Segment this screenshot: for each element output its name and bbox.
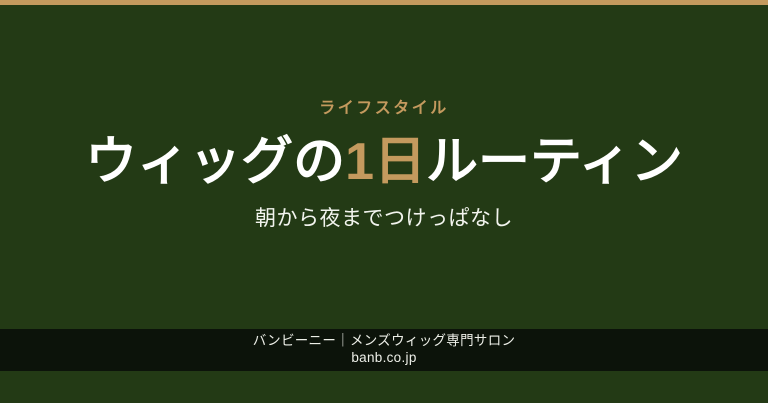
brand-url: banb.co.jp [351, 350, 416, 367]
subtitle: 朝から夜までつけっぱなし [255, 205, 513, 232]
brand-name: バンビーニー｜メンズウィッグ専門サロン [253, 333, 516, 350]
page-title: ウィッグの1日ルーティン [85, 133, 683, 191]
title-card: ライフスタイル ウィッグの1日ルーティン 朝から夜までつけっぱなし バンビーニー… [0, 0, 768, 403]
category-label: ライフスタイル [319, 101, 449, 117]
hero-content: ライフスタイル ウィッグの1日ルーティン 朝から夜までつけっぱなし [0, 5, 768, 329]
headline-part-1: ウィッグの [85, 133, 345, 191]
headline-highlight: 1日 [345, 133, 426, 191]
footer-band: バンビーニー｜メンズウィッグ専門サロン banb.co.jp [0, 329, 768, 371]
headline-part-3: ルーティン [426, 133, 683, 191]
bottom-fill [0, 371, 768, 403]
